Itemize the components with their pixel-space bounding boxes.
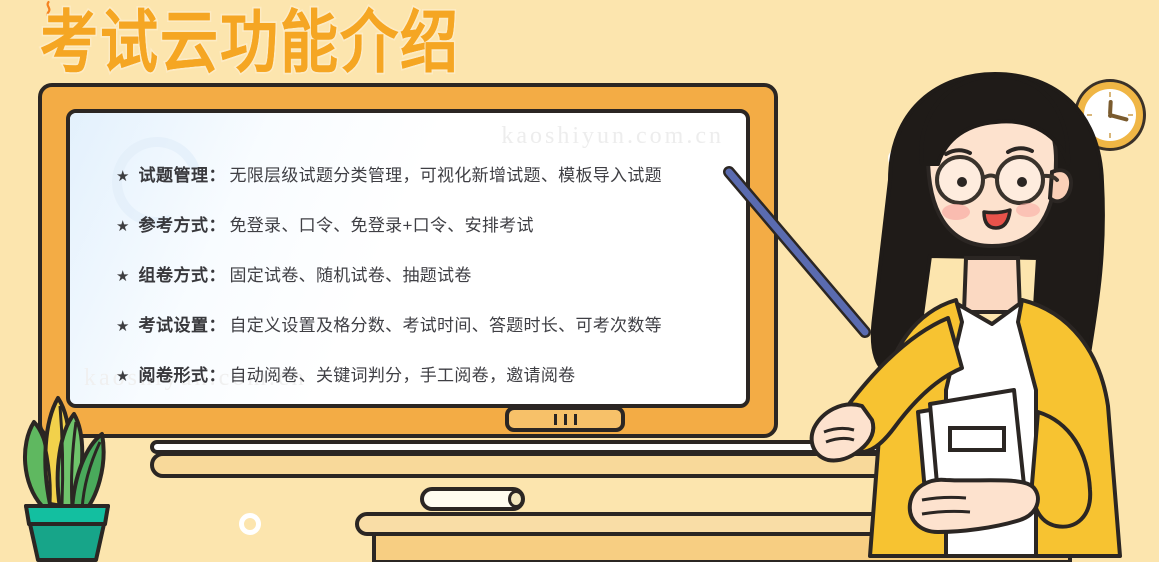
feature-label: 考试设置	[138, 311, 208, 336]
feature-colon: ：	[208, 261, 225, 286]
page-title: 考试云功能介绍	[40, 8, 460, 76]
decor-ring-bottom	[239, 513, 261, 535]
feature-description: 免登录、口令、免登录+口令、安排考试	[229, 211, 533, 236]
feature-colon: ：	[208, 361, 225, 386]
poster-canvas: 考试云功能介绍 kaoshiyun.com.cn kaoshiyun.com.c…	[0, 0, 1159, 562]
feature-label: 参考方式	[138, 211, 208, 236]
marker-line	[554, 414, 557, 425]
marker-line	[574, 414, 577, 425]
feature-description: 自定义设置及格分数、考试时间、答题时长、可考次数等	[229, 311, 662, 336]
feature-list: ★ 试题管理 ： 无限层级试题分类管理，可视化新增试题、模板导入试题 ★ 参考方…	[116, 161, 722, 408]
star-icon: ★	[116, 219, 129, 234]
feature-label: 组卷方式	[138, 261, 208, 286]
teacher-illustration	[770, 60, 1159, 562]
feature-row: ★ 组卷方式 ： 固定试卷、随机试卷、抽题试卷	[116, 261, 722, 286]
feature-label: 阅卷形式	[138, 361, 208, 386]
feature-colon: ：	[208, 311, 225, 336]
whiteboard-surface: kaoshiyun.com.cn kaoshiyun.com.cn ★ 试题管理…	[66, 109, 750, 408]
star-icon: ★	[116, 319, 129, 334]
feature-row: ★ 阅卷形式 ： 自动阅卷、关键词判分，手工阅卷，邀请阅卷	[116, 361, 722, 386]
star-icon: ★	[116, 369, 129, 384]
title-block: 考试云功能介绍	[40, 8, 460, 66]
feature-row: ★ 试题管理 ： 无限层级试题分类管理，可视化新增试题、模板导入试题	[116, 161, 722, 186]
whiteboard: kaoshiyun.com.cn kaoshiyun.com.cn ★ 试题管理…	[38, 83, 778, 438]
star-icon: ★	[116, 169, 129, 184]
feature-description: 无限层级试题分类管理，可视化新增试题、模板导入试题	[229, 161, 662, 186]
rolled-diploma-icon	[420, 487, 525, 511]
feature-colon: ：	[208, 211, 225, 236]
feature-label: 试题管理	[138, 161, 208, 186]
watermark-top: kaoshiyun.com.cn	[501, 123, 724, 150]
feature-row: ★ 考试设置 ： 自定义设置及格分数、考试时间、答题时长、可考次数等	[116, 311, 722, 336]
potted-plant-icon	[4, 388, 124, 562]
feature-row: ★ 参考方式 ： 免登录、口令、免登录+口令、安排考试	[116, 211, 722, 236]
marker-tray-icon	[505, 406, 625, 432]
star-icon: ★	[116, 269, 129, 284]
feature-description: 自动阅卷、关键词判分，手工阅卷，邀请阅卷	[229, 361, 575, 386]
feature-description: 固定试卷、随机试卷、抽题试卷	[229, 261, 471, 286]
feature-colon: ：	[208, 161, 225, 186]
diploma-end-cap	[508, 490, 524, 508]
marker-line	[564, 414, 567, 425]
